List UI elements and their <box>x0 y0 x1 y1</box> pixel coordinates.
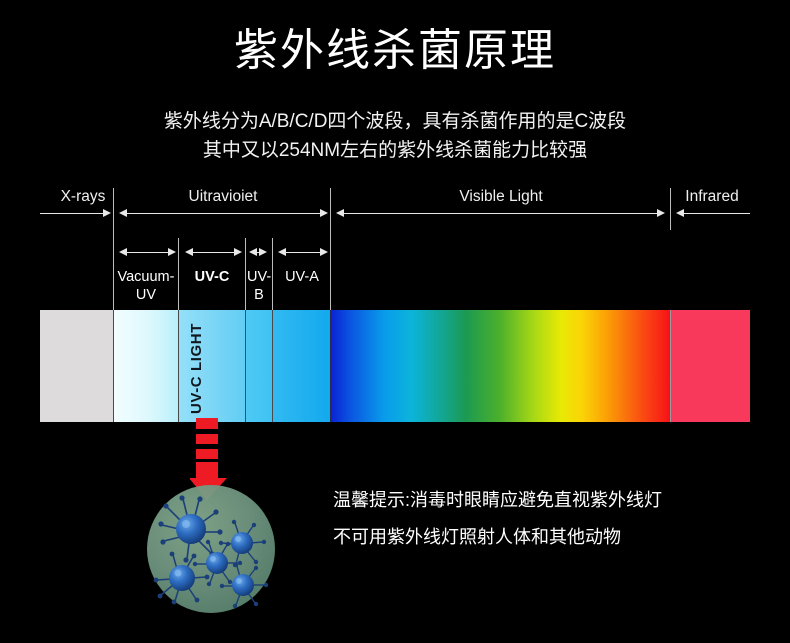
spectrum-border-3 <box>245 310 246 422</box>
arrow-head-uvc-right <box>234 248 242 256</box>
arrow-line-vacuumuv <box>126 252 168 253</box>
arrow-head-uvb-right <box>259 248 267 256</box>
spectrum-segment-visible-light <box>330 310 670 422</box>
region-label-ultraviolet: Uitravioiet <box>120 188 326 206</box>
subtitle-line-1: 紫外线分为A/B/C/D四个波段，具有杀菌作用的是C波段 <box>0 108 790 135</box>
ray-dash-3 <box>196 449 218 459</box>
divider-vacuumuv-uvc <box>178 238 179 310</box>
subband-label-uv-c: UV-C <box>181 268 243 286</box>
germ-cluster-icon <box>147 485 275 613</box>
arrow-line-uva <box>285 252 320 253</box>
spectrum-border-2 <box>178 310 179 422</box>
divider-uv-visible <box>330 188 331 310</box>
arrow-line-infrared <box>683 213 750 214</box>
spectrum-segment-vacuum-uv <box>113 310 178 422</box>
uv-c-light-callout: UV-C LIGHT <box>188 322 205 414</box>
diagram-canvas: 紫外线杀菌原理 紫外线分为A/B/C/D四个波段，具有杀菌作用的是C波段 其中又… <box>0 0 790 643</box>
spectrum-border-1 <box>113 310 114 422</box>
subband-label-vacuum-uv: Vacuum-UV <box>116 268 176 304</box>
germ-4 <box>154 552 210 605</box>
germ-1 <box>158 495 222 562</box>
ray-dash-2 <box>196 434 218 444</box>
arrow-head-uv-right <box>320 209 328 217</box>
arrow-head-visible-right <box>657 209 665 217</box>
safety-tip-line-2: 不可用紫外线灯照射人体和其他动物 <box>333 524 621 550</box>
electromagnetic-spectrum-bar: UV-C LIGHT <box>40 310 750 422</box>
arrow-line-x-rays <box>40 213 103 214</box>
arrow-line-visible <box>343 213 657 214</box>
page-title: 紫外线杀菌原理 <box>0 24 790 78</box>
divider-uvc-uvb <box>245 238 246 310</box>
divider-uvb-uva <box>272 238 273 310</box>
subband-label-uv-a: UV-A <box>276 268 328 286</box>
region-label-infrared: Infrared <box>676 188 748 206</box>
arrow-head-vacuumuv-right <box>168 248 176 256</box>
region-label-visible-light: Visible Light <box>336 188 666 206</box>
spectrum-segment-x-rays <box>40 310 113 422</box>
spectrum-segment-uv-a <box>272 310 330 422</box>
ray-dash-1 <box>196 418 218 429</box>
safety-tip-line-1: 温馨提示:消毒时眼睛应避免直视紫外线灯 <box>333 487 662 513</box>
spectrum-border-4 <box>272 310 273 422</box>
arrow-head-x-rays-right <box>103 209 111 217</box>
divider-xray-uv <box>113 188 114 310</box>
subband-label-uv-b: UV-B <box>247 268 271 304</box>
arrow-line-ultraviolet <box>126 213 320 214</box>
divider-visible-ir <box>670 188 671 230</box>
spectrum-border-6 <box>670 310 671 422</box>
germ-5 <box>220 563 268 608</box>
subtitle-line-2: 其中又以254NM左右的紫外线杀菌能力比较强 <box>0 137 790 164</box>
arrow-head-uva-right <box>320 248 328 256</box>
arrow-line-uvc <box>192 252 234 253</box>
spectrum-segment-uv-b <box>245 310 272 422</box>
bacteria-colony <box>147 485 275 613</box>
spectrum-border-5 <box>330 310 331 422</box>
spectrum-segment-infrared <box>670 310 750 422</box>
region-label-x-rays: X-rays <box>48 188 118 206</box>
